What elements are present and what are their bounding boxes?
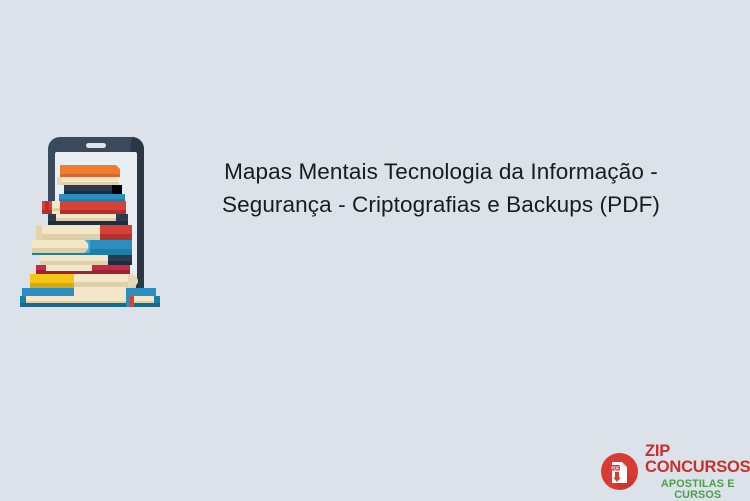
product-title: Mapas Mentais Tecnologia da Informação -… <box>196 155 686 221</box>
brand-wordmark: ZIP CONCURSOS APOSTILAS E CURSOS <box>645 442 750 501</box>
book-top-teal <box>59 194 125 201</box>
book-crimson-lower <box>36 265 130 274</box>
book-blue-center <box>32 240 132 255</box>
book-stack-illustration <box>12 132 170 310</box>
book-top-cream <box>57 177 119 185</box>
book-cream-lower <box>40 255 132 265</box>
book-yellow <box>30 274 138 288</box>
book-top-navy <box>64 185 122 194</box>
brand-tagline: APOSTILAS E CURSOS <box>645 479 750 501</box>
book-navy-upper <box>48 214 128 225</box>
svg-text:PDF: PDF <box>611 465 620 470</box>
brand-name: ZIP CONCURSOS <box>645 443 750 476</box>
book-red-upper <box>42 201 126 214</box>
book-base-teal <box>20 287 160 307</box>
product-card: Mapas Mentais Tecnologia da Informação -… <box>0 0 750 500</box>
brand-logo[interactable]: PDF ZIP CONCURSOS APOSTILAS E CURSOS <box>601 451 735 491</box>
pdf-download-icon: PDF <box>601 453 638 490</box>
book-red-center <box>36 225 132 240</box>
book-top-orange <box>60 165 120 177</box>
